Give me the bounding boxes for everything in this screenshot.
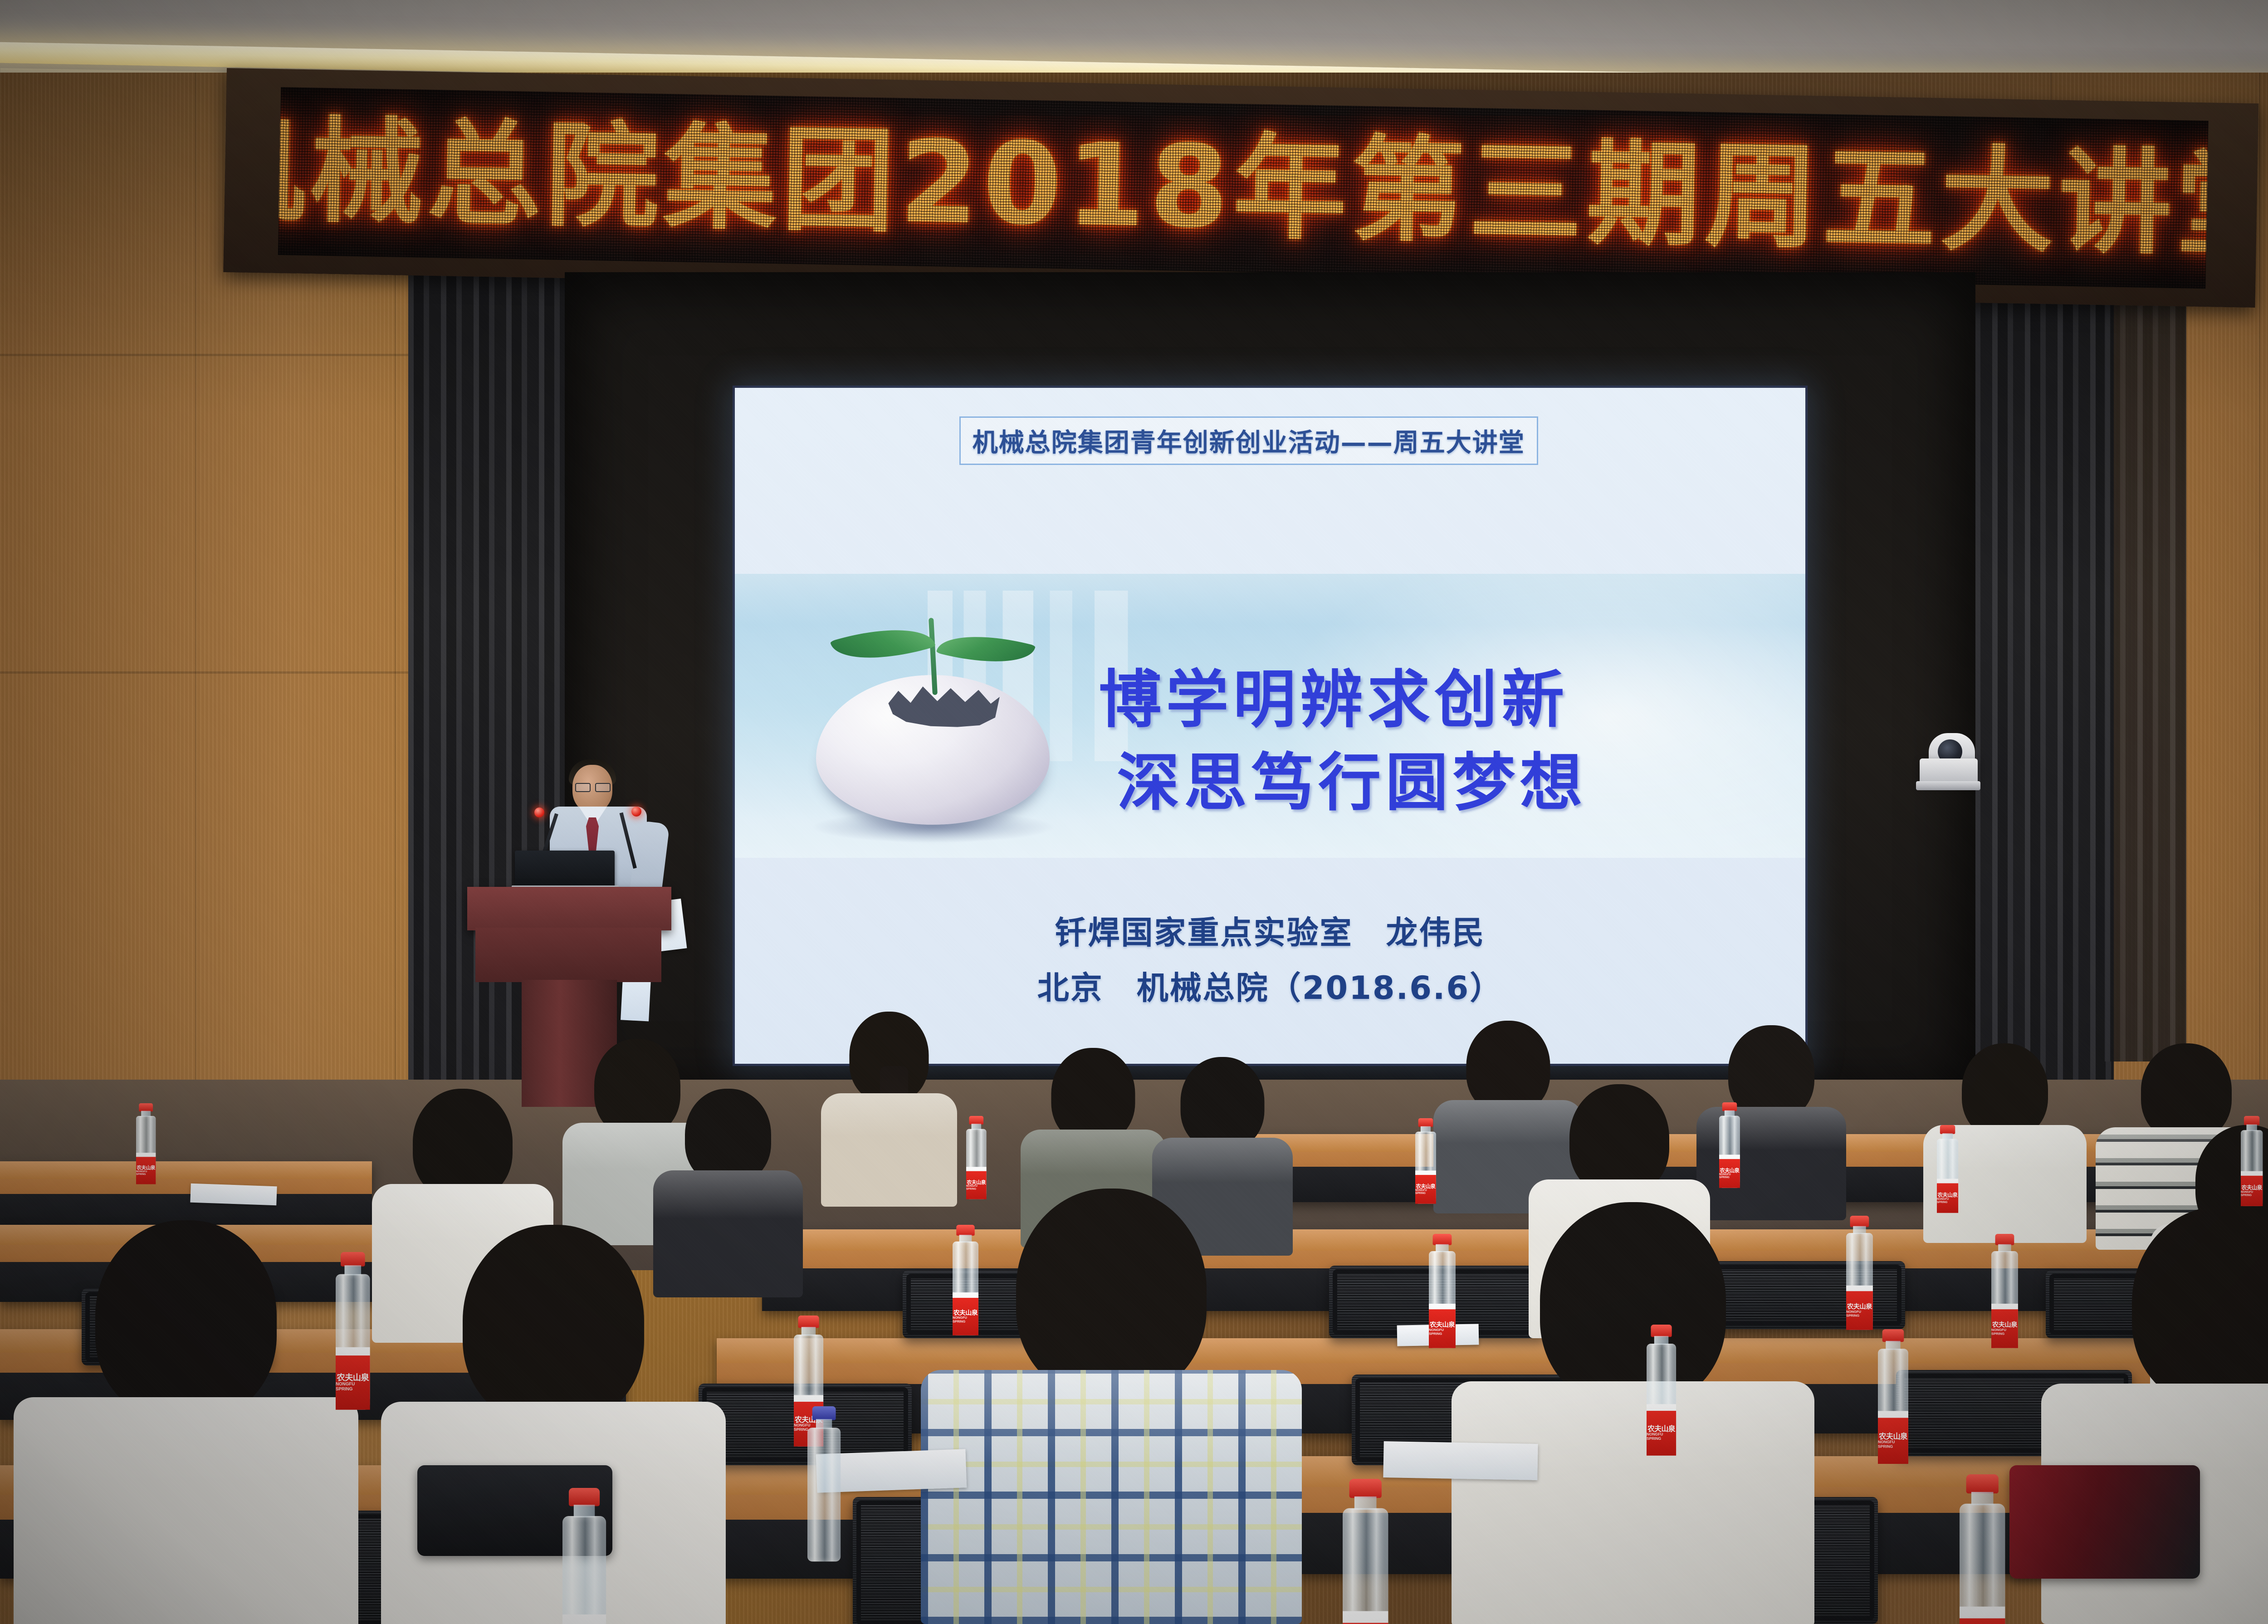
bottle-brand-en: NONGFU SPRING <box>1878 1441 1908 1449</box>
bottle-body: 农夫山泉 NONGFU SPRING <box>1937 1139 1958 1213</box>
bottle-brand-en: NONGFU SPRING <box>1719 1173 1740 1179</box>
bottle-label-red: 农夫山泉 NONGFU SPRING <box>1647 1411 1676 1456</box>
bottle-body: 农夫山泉 NONGFU SPRING <box>1647 1344 1676 1456</box>
bottle-label-red: 农夫山泉 NONGFU SPRING <box>1878 1418 1908 1464</box>
bottle-brand-cn: 农夫山泉 <box>2242 1185 2262 1191</box>
bottle-brand-en: NONGFU SPRING <box>1415 1189 1436 1194</box>
bottle-brand-en: NONGFU SPRING <box>966 1185 987 1190</box>
bottle-label-red: 农夫山泉 NONGFU SPRING <box>136 1157 156 1184</box>
bottle-body: 农夫山泉 NONGFU SPRING <box>1991 1251 2018 1348</box>
slide-footer-block: 钎焊国家重点实验室 龙伟民 北京 机械总院（2018.6.6） <box>810 905 1730 1016</box>
attendee-head <box>1569 1084 1669 1195</box>
bottle-cap <box>1651 1325 1672 1337</box>
attendee-front-left <box>14 1220 358 1624</box>
bottle-brand-en: NONGFU SPRING <box>1647 1433 1676 1441</box>
red-black-backpack <box>2009 1465 2200 1579</box>
bottle-brand-en: NONGFU SPRING <box>2241 1191 2263 1197</box>
bottle-cap <box>569 1488 600 1506</box>
bottle-body: 农夫山泉 NONGFU SPRING <box>336 1274 370 1410</box>
attendee-head <box>685 1089 771 1184</box>
bottle-cap <box>2244 1116 2259 1125</box>
bottle-brand-cn: 农夫山泉 <box>953 1310 978 1316</box>
bottle-label-red: 农夫山泉 NONGFU SPRING <box>1846 1291 1873 1330</box>
bottle-body: 农夫山泉 NONGFU SPRING <box>2241 1130 2263 1206</box>
attendee-head <box>95 1220 277 1420</box>
microphone-tip-left-icon <box>534 807 544 817</box>
bottle-body: 农夫山泉 NONGFU SPRING <box>136 1116 156 1184</box>
bottle-brand-cn: 农夫山泉 <box>337 1374 369 1382</box>
bottle-brand-cn: 农夫山泉 <box>1720 1168 1739 1174</box>
bottle-body: 农夫山泉 NONGFU SPRING <box>953 1242 978 1335</box>
egg-sprout-graphic <box>794 625 1072 852</box>
bottle-cap <box>1722 1102 1737 1111</box>
attendee-head <box>1540 1202 1726 1406</box>
bottle-cap <box>1966 1474 1999 1493</box>
attendee-ponytail-woman <box>821 1012 957 1207</box>
slide-footer-line-1: 钎焊国家重点实验室 龙伟民 <box>810 905 1730 961</box>
stage-curtain-right-outer <box>2105 272 2186 1061</box>
bottle-label-red: 农夫山泉 NONGFU SPRING <box>2241 1176 2263 1206</box>
slide-footer-line-2: 北京 机械总院（2018.6.6） <box>810 960 1730 1016</box>
bottle-cap <box>139 1103 153 1111</box>
bottle-label-white <box>562 1615 606 1624</box>
bottle-cap <box>956 1225 974 1236</box>
bottle-label-red: 农夫山泉 NONGFU SPRING <box>1719 1159 1740 1188</box>
bottle-cap <box>1433 1234 1452 1245</box>
attendee-head <box>1728 1025 1814 1120</box>
bottle-brand-en: NONGFU SPRING <box>953 1316 978 1323</box>
attendee-front-right <box>1452 1202 1814 1624</box>
slide-header-text: 机械总院集团青年创新创业活动——周五大讲堂 <box>973 428 1525 458</box>
bottle-cap <box>1349 1479 1382 1498</box>
sprout-leaf-left <box>830 614 936 674</box>
slide-header-box: 机械总院集团青年创新创业活动——周五大讲堂 <box>959 416 1538 465</box>
bottle-neck <box>1354 1497 1377 1510</box>
lecture-hall-photo: 机械总院集团2018年第三期周五大讲堂 机械总院集团青年创新创业活动——周五大讲… <box>0 0 2268 1624</box>
bottle-label-red: 农夫山泉 NONGFU SPRING <box>1429 1309 1456 1348</box>
slide-title-line-2: 深思笃行圆梦想 <box>1117 742 1784 824</box>
attendee-torso <box>1452 1381 1814 1624</box>
bottle-body: 农夫山泉 NONGFU SPRING <box>966 1129 987 1199</box>
bottle-brand-en: NONGFU SPRING <box>336 1382 370 1391</box>
bottle-cap <box>1995 1234 2014 1245</box>
bottle-label-white <box>1343 1611 1388 1624</box>
slide-banner-band: 博学明辨求创新 深思笃行圆梦想 <box>735 574 1805 858</box>
bottle-body: 农夫山泉 NONGFU SPRING <box>562 1516 606 1624</box>
podium-body <box>475 928 661 982</box>
bottle-brand-cn: 农夫山泉 <box>1879 1433 1907 1441</box>
bottle-label-red: 农夫山泉 NONGFU SPRING <box>1991 1309 2018 1348</box>
sprout-leaf-right <box>936 623 1036 675</box>
attendee-head <box>1181 1057 1265 1150</box>
bottle-body: 农夫山泉 NONGFU SPRING <box>1878 1349 1908 1464</box>
led-banner-text: 机械总院集团2018年第三期周五大讲堂 <box>278 113 2209 263</box>
projection-screen: 机械总院集团青年创新创业活动——周五大讲堂 博学明辨求创新 深思笃行圆梦想 钎焊… <box>735 388 1805 1064</box>
slide-title-block: 博学明辨求创新 深思笃行圆梦想 <box>1099 659 1784 824</box>
bottle-label-red: 农夫山泉 NONGFU SPRING <box>1937 1183 1958 1213</box>
bottle-cap <box>1850 1216 1869 1227</box>
bottle-body: 农夫山泉 NONGFU SPRING <box>1343 1508 1388 1624</box>
attendee-torso <box>921 1370 1302 1624</box>
bottle-brand-en: NONGFU SPRING <box>1846 1311 1873 1318</box>
attendee-head <box>1016 1189 1207 1397</box>
bottle-cap <box>1882 1329 1904 1342</box>
bottle-cap <box>969 1116 983 1125</box>
attendee-front-left-2 <box>381 1225 726 1624</box>
attendee-head <box>2132 1207 2268 1406</box>
paper-handout-far-left <box>190 1184 277 1206</box>
desk-row4-left <box>0 1161 372 1229</box>
bottle-brand-cn: 农夫山泉 <box>1647 1425 1675 1433</box>
bottle-label-red: 农夫山泉 NONGFU SPRING <box>336 1355 370 1410</box>
bottle-label-red: 农夫山泉 NONGFU SPRING <box>953 1298 978 1335</box>
microphone-tip-right-icon <box>631 807 641 817</box>
bottle-brand-en: NONGFU SPRING <box>1937 1198 1958 1204</box>
bottle-cap <box>341 1252 365 1267</box>
led-banner-housing: 机械总院集团2018年第三期周五大讲堂 <box>223 68 2258 308</box>
bottle-label-red: 农夫山泉 NONGFU SPRING <box>1960 1619 2005 1624</box>
bottle-brand-cn: 农夫山泉 <box>1992 1322 2017 1329</box>
bottle-body: 农夫山泉 NONGFU SPRING <box>1719 1116 1740 1188</box>
podium-top <box>467 887 671 930</box>
bottle-cap <box>1940 1125 1955 1134</box>
bottle-brand-cn: 农夫山泉 <box>1430 1322 1455 1329</box>
attendee-head <box>413 1089 513 1200</box>
paper-handout-right <box>1383 1441 1538 1480</box>
ptz-camera-body <box>1920 758 1978 784</box>
presenter-laptop <box>515 851 615 890</box>
ptz-camera-mount <box>1916 781 1980 790</box>
bottle-brand-cn: 农夫山泉 <box>1938 1193 1958 1198</box>
bottle-cap <box>798 1316 819 1328</box>
bottle-cap <box>1418 1118 1433 1127</box>
bottle-label-red: 农夫山泉 NONGFU SPRING <box>966 1171 987 1199</box>
bottle-neck <box>574 1505 595 1517</box>
bottle-neck <box>1971 1492 1994 1505</box>
bottle-body <box>807 1428 841 1561</box>
bottle-label-red: 农夫山泉 NONGFU SPRING <box>1415 1175 1436 1204</box>
bottle-brand-en: NONGFU SPRING <box>136 1170 156 1176</box>
bottle-body: 农夫山泉 NONGFU SPRING <box>1846 1233 1873 1330</box>
bottle-brand-en: NONGFU SPRING <box>1429 1329 1456 1336</box>
bottle-body: 农夫山泉 NONGFU SPRING <box>1960 1504 2005 1624</box>
attendee-head <box>463 1225 644 1424</box>
bottle-brand-cn: 农夫山泉 <box>1416 1184 1435 1189</box>
slide-title-line-1: 博学明辨求创新 <box>1099 659 1784 741</box>
led-banner-panel: 机械总院集团2018年第三期周五大讲堂 <box>278 87 2209 289</box>
bottle-brand-cn: 农夫山泉 <box>1847 1304 1872 1311</box>
bottle-body: 农夫山泉 NONGFU SPRING <box>1429 1251 1456 1348</box>
attendee-torso <box>14 1397 358 1624</box>
bottle-cap <box>812 1406 836 1420</box>
desk-surface <box>0 1161 372 1179</box>
attendee-head <box>1051 1048 1135 1143</box>
bottle-brand-en: NONGFU SPRING <box>1991 1329 2018 1336</box>
bottle-body: 农夫山泉 NONGFU SPRING <box>1415 1132 1436 1204</box>
stage-curtain-right <box>1960 272 2114 1084</box>
attendee-head <box>1962 1043 2048 1139</box>
glasses-icon <box>575 783 611 790</box>
